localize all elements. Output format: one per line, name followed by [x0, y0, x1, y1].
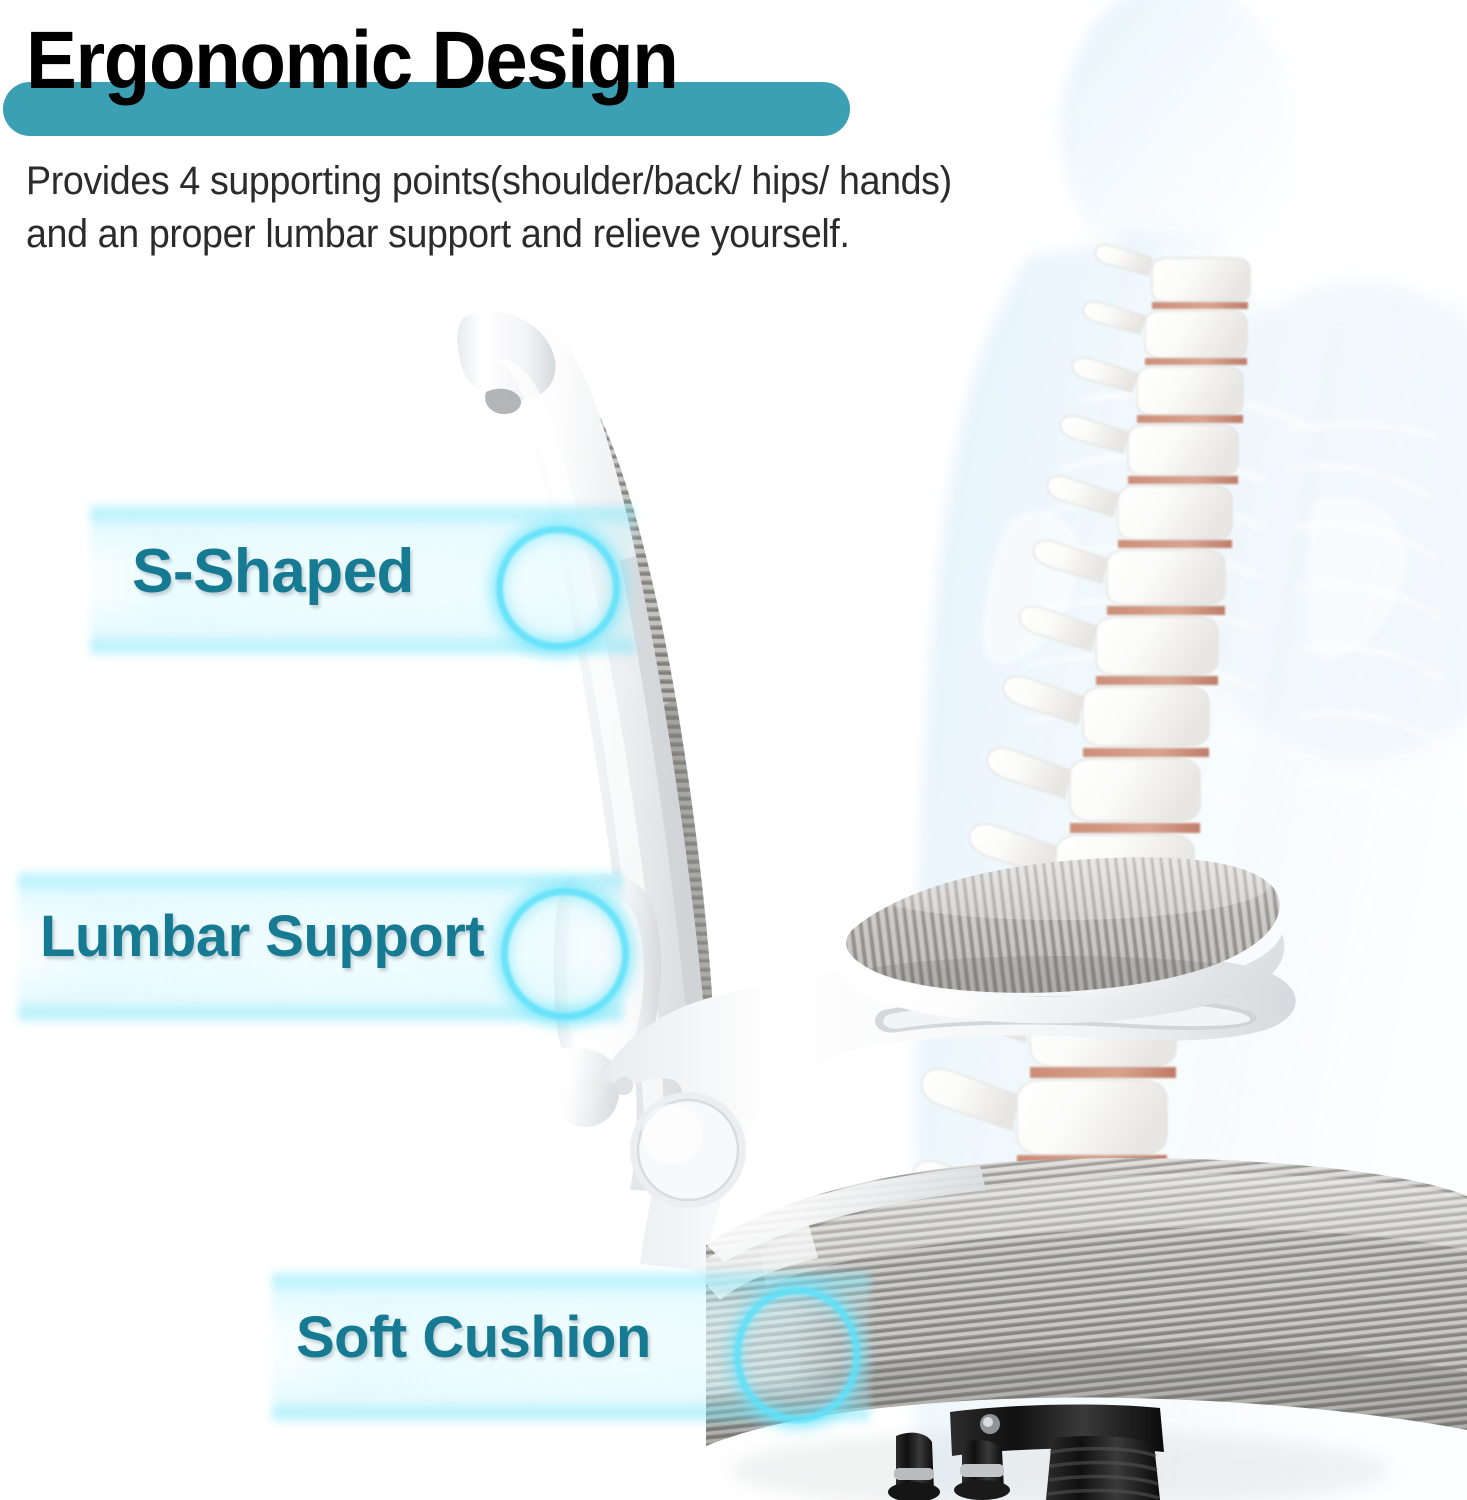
callout-label: S-Shaped	[132, 536, 414, 607]
callout-lumbar-support: Lumbar Support	[18, 862, 638, 1032]
callout-label: Soft Cushion	[296, 1304, 651, 1371]
title-wrap: Ergonomic Design	[0, 0, 1300, 150]
scapula	[982, 497, 1405, 665]
callout-target-ring	[501, 888, 629, 1020]
ribcage-lines	[1022, 394, 1444, 946]
header-block: Ergonomic Design Provides 4 supporting p…	[0, 0, 1300, 150]
chair-base	[888, 1405, 1164, 1500]
page-title: Ergonomic Design	[26, 20, 677, 102]
callout-target-ring	[496, 526, 620, 650]
page-subtitle: Provides 4 supporting points(shoulder/ba…	[26, 155, 952, 261]
spine-column	[913, 245, 1250, 1382]
body-silhouette	[915, 0, 1467, 1500]
callout-soft-cushion: Soft Cushion	[272, 1262, 882, 1432]
callout-label: Lumbar Support	[40, 903, 484, 970]
callout-s-shaped: S-Shaped	[90, 495, 650, 665]
product-feature-image: Ergonomic Design Provides 4 supporting p…	[0, 0, 1467, 1500]
chair-armrest	[600, 787, 1353, 1270]
callout-target-ring	[734, 1287, 860, 1423]
chair-backrest	[457, 312, 760, 1192]
